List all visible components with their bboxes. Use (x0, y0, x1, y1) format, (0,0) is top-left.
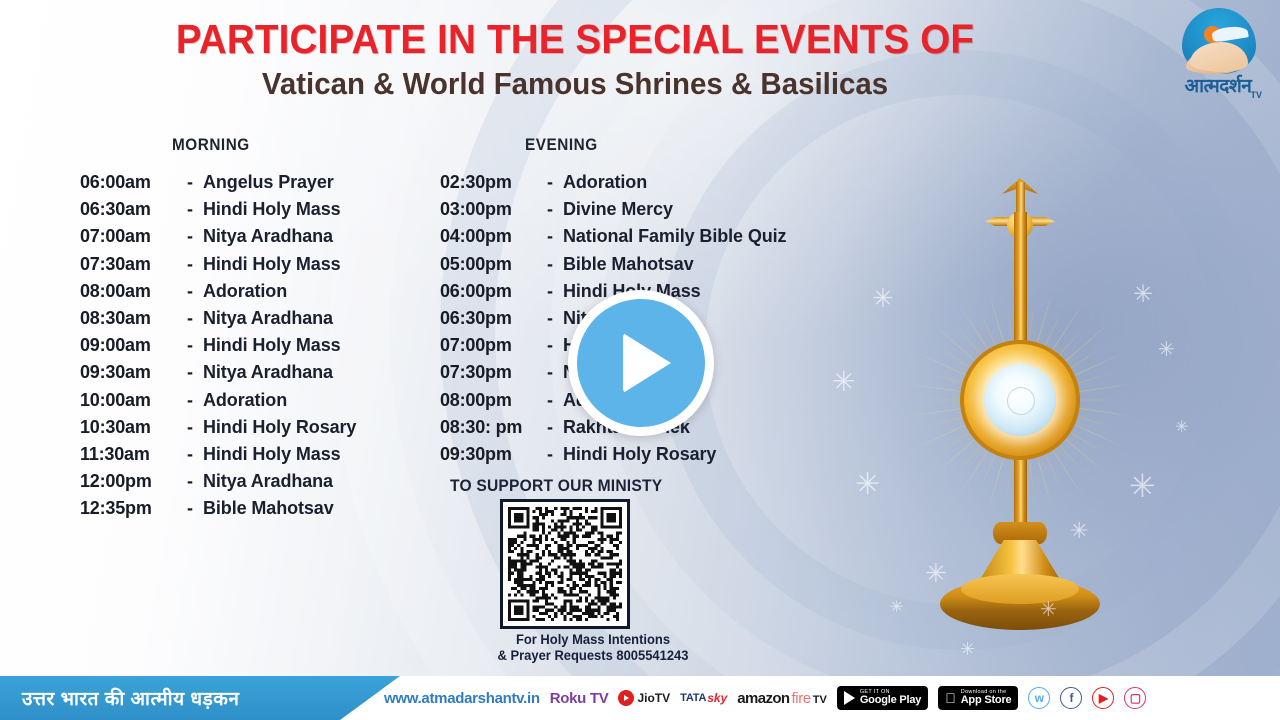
schedule-time: 09:30pm (440, 444, 537, 465)
schedule-event: Bible Mahotsav (563, 254, 694, 275)
schedule-dash: - (177, 498, 203, 519)
sparkle-icon: ✳ (1129, 470, 1156, 502)
app-store-big: App Store (961, 695, 1012, 706)
sparkle-icon: ✳ (1158, 340, 1175, 360)
app-store-text: Download on the App Store (961, 690, 1012, 707)
google-play-big: Google Play (860, 695, 921, 706)
schedule-row: 12:35pm-Bible Mahotsav (80, 498, 356, 525)
schedule-dash: - (177, 172, 203, 193)
evening-heading: EVENING (525, 135, 598, 155)
schedule-row: 08:30am-Nitya Aradhana (80, 308, 356, 335)
schedule-row: 05:00pm-Bible Mahotsav (440, 254, 786, 281)
schedule-time: 07:00am (80, 226, 177, 247)
schedule-event: Nitya Aradhana (203, 308, 333, 329)
schedule-dash: - (177, 417, 203, 438)
schedule-time: 09:30am (80, 362, 177, 383)
schedule-time: 08:00pm (440, 390, 537, 411)
schedule-event: Nitya Aradhana (203, 471, 333, 492)
schedule-row: 07:30am-Hindi Holy Mass (80, 254, 356, 281)
schedule-row: 09:30pm-Hindi Holy Rosary (440, 444, 786, 471)
schedule-dash: - (537, 226, 563, 247)
schedule-time: 10:30am (80, 417, 177, 438)
sparkle-icon: ✳ (1175, 420, 1188, 436)
schedule-row: 09:30am-Nitya Aradhana (80, 362, 356, 389)
schedule-row: 09:00am-Hindi Holy Mass (80, 335, 356, 362)
schedule-row: 11:30am-Hindi Holy Mass (80, 444, 356, 471)
schedule-time: 03:00pm (440, 199, 537, 220)
footer-links: www.atmadarshantv.in Roku TV JioTV TATA … (384, 676, 1274, 720)
schedule-time: 10:00am (80, 390, 177, 411)
schedule-time: 06:30am (80, 199, 177, 220)
schedule-row: 07:00am-Nitya Aradhana (80, 226, 356, 253)
atmadarshan-tv-logo: आत्मदर्शन TV (1164, 6, 1272, 104)
schedule-dash: - (177, 226, 203, 247)
schedule-event: Adoration (563, 172, 647, 193)
schedule-row: 03:00pm-Divine Mercy (440, 199, 786, 226)
amazon-fire-tv-logo[interactable]: amazon fire TV (737, 690, 827, 707)
schedule-time: 09:00am (80, 335, 177, 356)
schedule-time: 07:00pm (440, 335, 537, 356)
schedule-time: 06:00am (80, 172, 177, 193)
schedule-time: 05:00pm (440, 254, 537, 275)
schedule-row: 02:30pm-Adoration (440, 172, 786, 199)
schedule-dash: - (177, 444, 203, 465)
schedule-dash: - (537, 417, 563, 438)
schedule-dash: - (537, 254, 563, 275)
play-button[interactable] (568, 290, 714, 436)
tv-label: TV (813, 694, 827, 706)
support-line-1: For Holy Mass Intentions (473, 632, 713, 648)
schedule-dash: - (537, 281, 563, 302)
schedule-event: Hindi Holy Mass (203, 335, 341, 356)
schedule-dash: - (177, 199, 203, 220)
schedule-event: Nitya Aradhana (203, 226, 333, 247)
schedule-row: 06:00am-Angelus Prayer (80, 172, 356, 199)
fire-label: fire (792, 690, 811, 707)
broadcast-schedule-screen: PARTICIPATE IN THE SPECIAL EVENTS OF Vat… (0, 0, 1280, 720)
schedule-row: 06:30am-Hindi Holy Mass (80, 199, 356, 226)
schedule-dash: - (177, 308, 203, 329)
tata-sky-logo[interactable]: TATA sky (680, 691, 727, 705)
schedule-time: 08:30am (80, 308, 177, 329)
schedule-time: 04:00pm (440, 226, 537, 247)
sparkle-icon: ✳ (1133, 283, 1153, 307)
schedule-event: Adoration (203, 281, 287, 302)
schedule-row: 10:30am-Hindi Holy Rosary (80, 417, 356, 444)
google-play-icon (844, 691, 855, 705)
morning-heading: MORNING (172, 135, 250, 155)
schedule-time: 12:00pm (80, 471, 177, 492)
schedule-event: Hindi Holy Mass (203, 199, 341, 220)
title-subtitle: Vatican & World Famous Shrines & Basilic… (29, 66, 1122, 102)
schedule-dash: - (177, 362, 203, 383)
footer-bar: उत्तर भारत की आत्मीय धड़कन www.atmadarsh… (0, 676, 1280, 720)
app-store-badge[interactable]:  Download on the App Store (938, 686, 1018, 710)
google-play-text: GET IT ON Google Play (860, 690, 921, 707)
schedule-time: 07:30am (80, 254, 177, 275)
schedule-row: 04:00pm-National Family Bible Quiz (440, 226, 786, 253)
google-play-badge[interactable]: GET IT ON Google Play (837, 686, 928, 710)
sparkle-icon: ✳ (960, 640, 975, 658)
jiotv-logo[interactable]: JioTV (618, 690, 670, 706)
schedule-dash: - (177, 390, 203, 411)
youtube-icon[interactable]: ▶ (1092, 687, 1114, 709)
sparkle-icon: ✳ (855, 470, 880, 500)
schedule-dash: - (537, 308, 563, 329)
title-main: PARTICIPATE IN THE SPECIAL EVENTS OF (35, 16, 1116, 63)
schedule-time: 02:30pm (440, 172, 537, 193)
monstrance-illustration (840, 170, 1200, 670)
support-title: TO SUPPORT OUR MINISTY (450, 476, 662, 496)
instagram-icon[interactable]: ▢ (1124, 687, 1146, 709)
schedule-time: 08:30: pm (440, 417, 537, 438)
donation-qr-code[interactable] (500, 499, 630, 629)
schedule-row: 10:00am-Adoration (80, 390, 356, 417)
schedule-event: Hindi Holy Rosary (203, 417, 356, 438)
schedule-dash: - (177, 254, 203, 275)
schedule-dash: - (537, 444, 563, 465)
monstrance-rays (900, 280, 1140, 520)
tata-label: TATA (680, 692, 706, 704)
sparkle-icon: ✳ (872, 285, 894, 311)
schedule-event: Angelus Prayer (203, 172, 334, 193)
schedule-row: 08:00am-Adoration (80, 281, 356, 308)
schedule-event: National Family Bible Quiz (563, 226, 786, 247)
schedule-event: Divine Mercy (563, 199, 673, 220)
apple-icon:  (945, 691, 956, 705)
twitter-icon[interactable]: w (1028, 687, 1050, 709)
sparkle-icon: ✳ (1040, 600, 1057, 620)
sparkle-icon: ✳ (1070, 520, 1088, 542)
schedule-dash: - (177, 335, 203, 356)
website-link[interactable]: www.atmadarshantv.in (384, 690, 540, 707)
support-contact: For Holy Mass Intentions & Prayer Reques… (473, 632, 713, 664)
schedule-time: 06:00pm (440, 281, 537, 302)
play-icon (623, 333, 671, 393)
schedule-time: 11:30am (80, 444, 177, 465)
footer-tagline: उत्तर भारत की आत्मीय धड़कन (22, 685, 239, 711)
sacred-host-icon (984, 364, 1056, 436)
schedule-dash: - (537, 335, 563, 356)
play-button-inner (577, 299, 705, 427)
amazon-label: amazon (737, 690, 789, 707)
facebook-icon[interactable]: f (1060, 687, 1082, 709)
schedule-time: 07:30pm (440, 362, 537, 383)
schedule-event: Adoration (203, 390, 287, 411)
schedule-event: Hindi Holy Mass (203, 444, 341, 465)
support-line-2: & Prayer Requests 8005541243 (473, 648, 713, 664)
schedule-event: Hindi Holy Mass (203, 254, 341, 275)
logo-tv-label: TV (1250, 90, 1262, 100)
schedule-dash: - (537, 172, 563, 193)
jiotv-label: JioTV (637, 691, 670, 705)
schedule-dash: - (177, 281, 203, 302)
schedule-time: 08:00am (80, 281, 177, 302)
schedule-event: Nitya Aradhana (203, 362, 333, 383)
schedule-time: 06:30pm (440, 308, 537, 329)
schedule-event: Hindi Holy Rosary (563, 444, 716, 465)
schedule-dash: - (177, 471, 203, 492)
sparkle-icon: ✳ (890, 600, 903, 616)
qr-canvas (508, 507, 622, 621)
schedule-event: Bible Mahotsav (203, 498, 334, 519)
jiotv-play-icon (618, 690, 634, 706)
sky-label: sky (707, 691, 727, 705)
sparkle-icon: ✳ (925, 560, 947, 586)
sparkle-icon: ✳ (832, 368, 855, 396)
schedule-dash: - (537, 362, 563, 383)
page-title: PARTICIPATE IN THE SPECIAL EVENTS OF Vat… (0, 16, 1150, 102)
morning-schedule-list: 06:00am-Angelus Prayer06:30am-Hindi Holy… (80, 172, 356, 525)
schedule-dash: - (537, 199, 563, 220)
schedule-dash: - (537, 390, 563, 411)
schedule-time: 12:35pm (80, 498, 177, 519)
monstrance-base-top (961, 574, 1079, 604)
roku-tv-logo[interactable]: Roku TV (550, 690, 609, 707)
schedule-row: 12:00pm-Nitya Aradhana (80, 471, 356, 498)
